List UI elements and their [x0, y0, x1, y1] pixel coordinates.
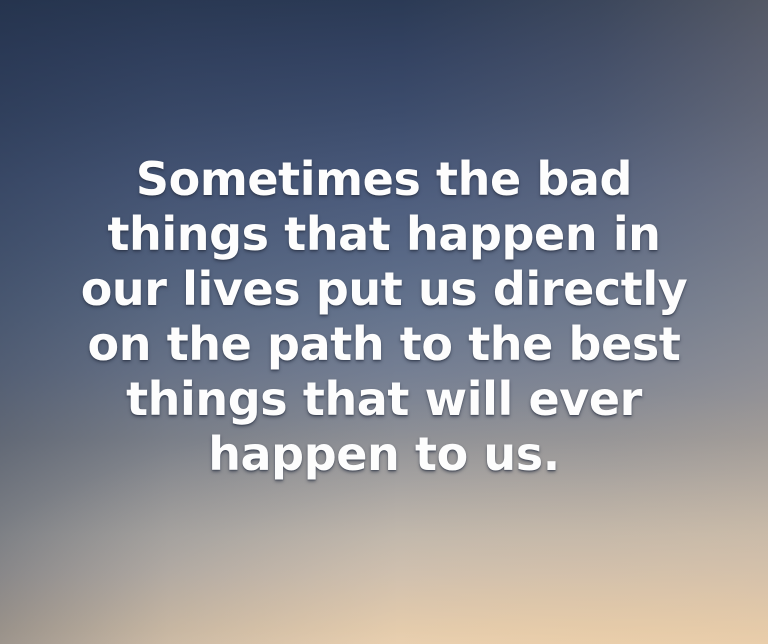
quote-card: Sometimes the bad things that happen in …	[0, 0, 768, 644]
quote-line-1: Sometimes the bad	[18, 152, 750, 207]
quote-line-3: our lives put us directly	[18, 262, 750, 317]
quote-line-6: happen to us.	[18, 427, 750, 482]
quote-line-5: things that will ever	[18, 372, 750, 427]
quote-line-4: on the path to the best	[18, 317, 750, 372]
quote-line-2: things that happen in	[18, 207, 750, 262]
quote-text-block: Sometimes the bad things that happen in …	[0, 152, 768, 482]
